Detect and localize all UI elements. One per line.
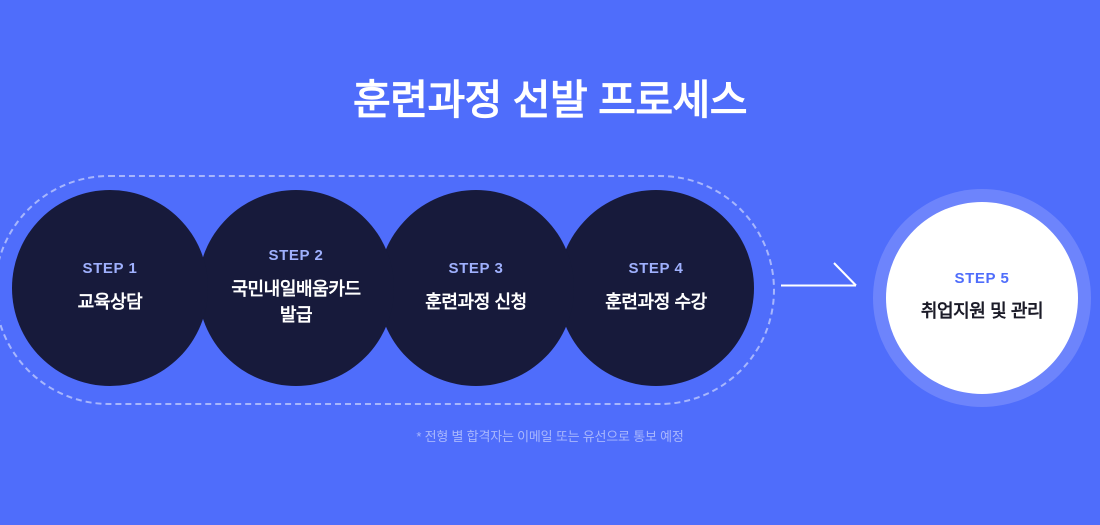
step-3-text: 훈련과정 신청: [417, 289, 535, 315]
step-4-label: STEP 4: [628, 261, 683, 276]
step-2-text-line-2: 발급: [231, 302, 360, 328]
step-circle-3: STEP 3 훈련과정 신청: [378, 190, 574, 386]
step-circle-1: STEP 1 교육상담: [12, 190, 208, 386]
step-3-label: STEP 3: [448, 261, 503, 276]
arrow-right-icon: [780, 256, 862, 296]
step-2-text: 국민내일배움카드 발급: [223, 276, 368, 328]
step-5-text: 취업지원 및 관리: [913, 298, 1051, 324]
process-infographic: 훈련과정 선발 프로세스 STEP 1 교육상담 STEP 2 국민내일배움카드…: [0, 0, 1100, 525]
page-title: 훈련과정 선발 프로세스: [0, 76, 1100, 125]
step-circle-4: STEP 4 훈련과정 수강: [558, 190, 754, 386]
step-4-text: 훈련과정 수강: [597, 289, 715, 315]
footnote-text: * 전형 별 합격자는 이메일 또는 유선으로 통보 예정: [0, 426, 1100, 445]
step-circle-2: STEP 2 국민내일배움카드 발급: [198, 190, 394, 386]
step-5-label: STEP 5: [954, 271, 1009, 286]
step-2-text-line-1: 국민내일배움카드: [231, 276, 360, 302]
step-1-label: STEP 1: [82, 261, 137, 276]
step-2-label: STEP 2: [268, 248, 323, 263]
step-1-text: 교육상담: [70, 289, 151, 315]
step-circle-5: STEP 5 취업지원 및 관리: [886, 202, 1078, 394]
